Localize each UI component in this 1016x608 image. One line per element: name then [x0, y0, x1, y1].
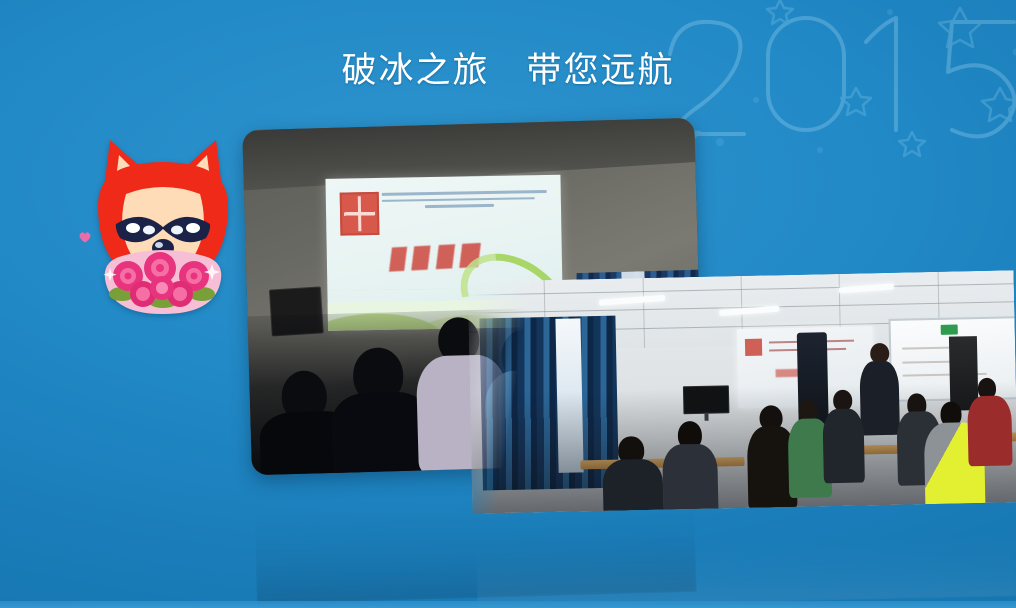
- ali-fox-sticker: [88, 128, 238, 328]
- slide-title: 破冰之旅 带您远航: [0, 42, 1016, 93]
- student-body: [662, 444, 718, 514]
- presenter-body: [860, 361, 900, 436]
- slide-header-text: [382, 190, 547, 212]
- presentation-slide: 破冰之旅 带您远航: [0, 0, 1016, 608]
- exit-sign-icon: [941, 325, 958, 335]
- red-seal-icon: [745, 338, 763, 356]
- star-icon: [767, 0, 793, 24]
- student-body: [823, 408, 865, 483]
- small-pink-heart-icon: [78, 231, 92, 243]
- student-body: [967, 396, 1012, 466]
- photo-reflection-2: [475, 500, 1016, 607]
- red-seal-icon: [340, 191, 380, 235]
- photo-classroom[interactable]: [468, 270, 1016, 513]
- student-body: [602, 459, 663, 514]
- bottom-accent-strip: [0, 601, 1016, 608]
- star-icon: [899, 132, 925, 156]
